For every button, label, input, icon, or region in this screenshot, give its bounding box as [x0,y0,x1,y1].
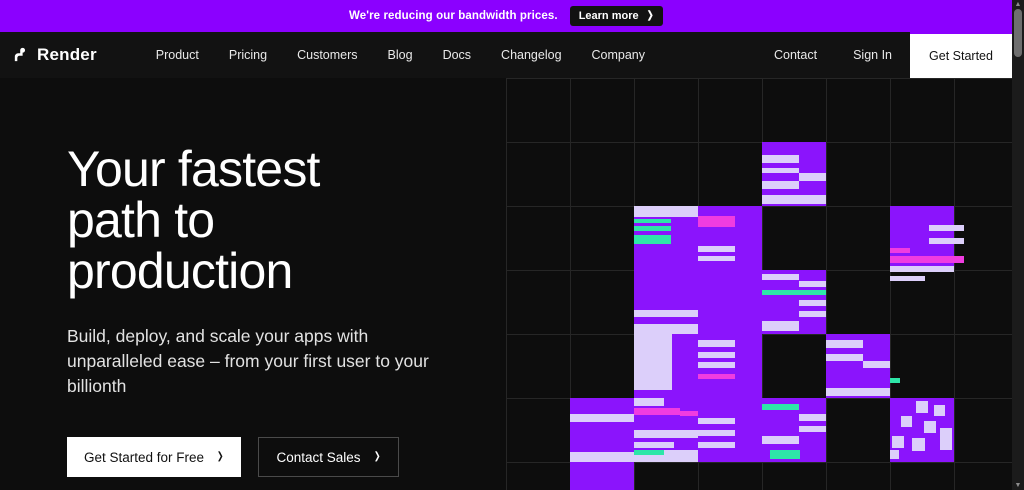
nav-link-sign-in[interactable]: Sign In [835,32,910,78]
get-started-for-free-label: Get Started for Free [84,450,204,465]
render-logo-mark [12,47,29,64]
hero-section: Your fastest path to production Build, d… [0,78,1012,490]
announcement-banner: We're reducing our bandwidth prices. Lea… [0,0,1012,32]
nav-link-pricing[interactable]: Pricing [214,32,282,78]
nav-link-company[interactable]: Company [577,32,661,78]
logo-text: Render [37,45,97,65]
hero-title: Your fastest path to production [67,144,497,297]
learn-more-label: Learn more [579,10,639,22]
caret-down-icon[interactable]: ▼ [1012,481,1024,490]
chevron-right-icon: ❯ [646,11,653,21]
main-navbar: Render Product Pricing Customers Blog Do… [0,32,1012,78]
nav-link-product[interactable]: Product [141,32,214,78]
chevron-right-icon: ❯ [373,452,380,462]
announcement-text: We're reducing our bandwidth prices. [349,10,558,22]
contact-sales-label: Contact Sales [276,450,360,465]
navbar-actions: Contact Sign In Get Started [756,32,1012,78]
chevron-right-icon: ❯ [217,452,224,462]
page-scrollbar[interactable]: ▲ ▼ [1012,0,1024,490]
logo-home-link[interactable]: Render [12,45,97,65]
get-started-button[interactable]: Get Started [910,32,1012,78]
contact-sales-button[interactable]: Contact Sales ❯ [258,437,398,477]
hero-cta-group: Get Started for Free ❯ Contact Sales ❯ [67,437,497,477]
nav-link-contact[interactable]: Contact [756,32,835,78]
caret-up-icon[interactable]: ▲ [1012,0,1024,9]
page-root: We're reducing our bandwidth prices. Lea… [0,0,1024,490]
nav-link-customers[interactable]: Customers [282,32,372,78]
hero-subtitle: Build, deploy, and scale your apps with … [67,324,437,399]
hero-content: Your fastest path to production Build, d… [67,144,497,477]
navbar-links: Product Pricing Customers Blog Docs Chan… [141,32,660,78]
scrollbar-thumb[interactable] [1014,9,1022,57]
nav-link-blog[interactable]: Blog [373,32,428,78]
nav-link-changelog[interactable]: Changelog [486,32,576,78]
navbar-brand-area: Render Product Pricing Customers Blog Do… [0,32,660,78]
nav-link-docs[interactable]: Docs [428,32,486,78]
get-started-for-free-button[interactable]: Get Started for Free ❯ [67,437,241,477]
learn-more-button[interactable]: Learn more ❯ [570,6,663,26]
